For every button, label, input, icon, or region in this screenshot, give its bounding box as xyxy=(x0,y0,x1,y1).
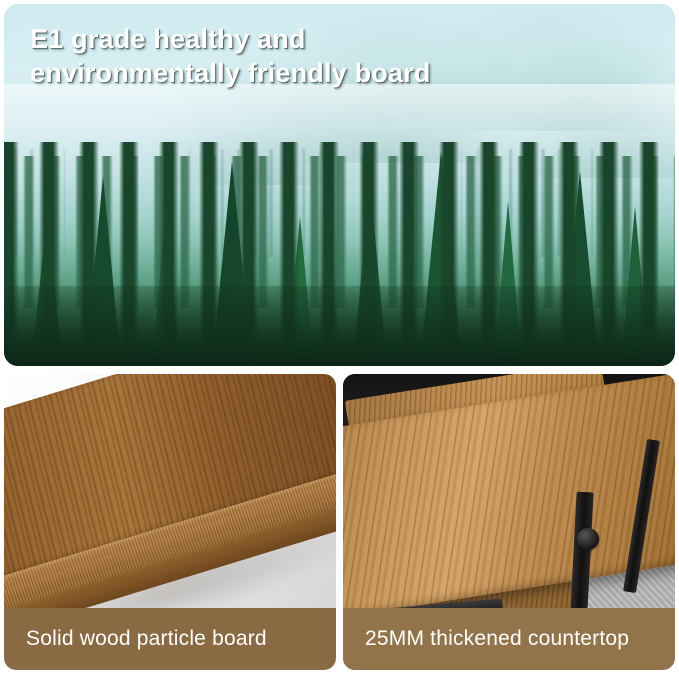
banner-headline: E1 grade healthy and environmentally fri… xyxy=(30,22,590,90)
panel-thickened-countertop[interactable]: 25MM thickened countertop xyxy=(343,374,675,670)
product-feature-collage: E1 grade healthy and environmentally fri… xyxy=(0,0,679,674)
caption-bar-left: Solid wood particle board xyxy=(4,608,336,670)
caption-text-right: 25MM thickened countertop xyxy=(365,627,629,651)
caption-text-left: Solid wood particle board xyxy=(26,627,267,651)
forest-floor-shadow xyxy=(4,286,675,366)
forest-banner: E1 grade healthy and environmentally fri… xyxy=(4,4,675,366)
caption-bar-right: 25MM thickened countertop xyxy=(343,608,675,670)
panel-solid-wood-particle-board[interactable]: Solid wood particle board xyxy=(4,374,336,670)
caster-wheel-icon xyxy=(577,528,599,550)
